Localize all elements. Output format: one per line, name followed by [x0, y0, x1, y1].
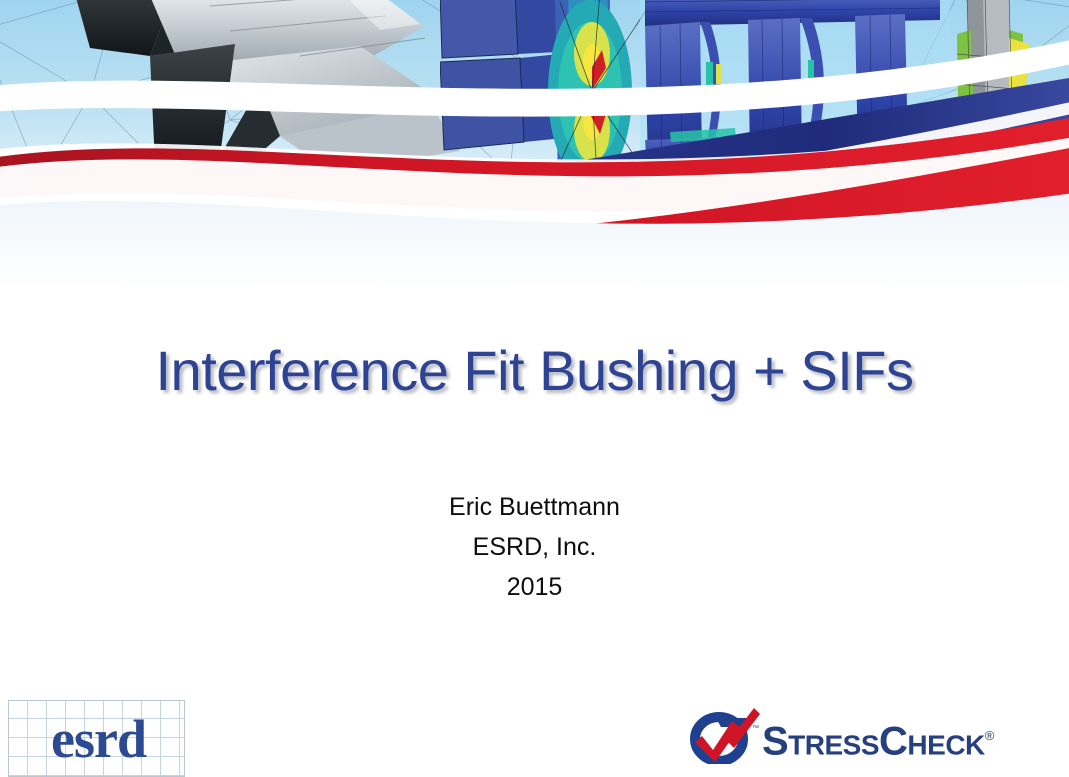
- svg-text:™: ™: [752, 725, 759, 732]
- stresscheck-wordmark-text: StressCheck: [762, 719, 985, 763]
- white-swoosh-top: [0, 38, 1069, 117]
- author-name: Eric Buettmann: [0, 487, 1069, 527]
- esrd-logo: esrd: [8, 700, 185, 777]
- presentation-slide: Interference Fit Bushing + SIFs Eric Bue…: [0, 0, 1069, 777]
- organization-name: ESRD, Inc.: [0, 527, 1069, 567]
- sigma-checkmark-icon: ™: [688, 706, 760, 764]
- subtitle-block: Eric Buettmann ESRD, Inc. 2015: [0, 487, 1069, 607]
- stresscheck-wordmark: StressCheck®: [762, 714, 994, 763]
- swoosh-graphics: [0, 0, 1069, 290]
- header-banner: [0, 0, 1069, 290]
- registered-mark: ®: [985, 728, 994, 743]
- stresscheck-logo: ™ StressCheck®: [688, 704, 1063, 768]
- year-label: 2015: [0, 567, 1069, 607]
- page-title: Interference Fit Bushing + SIFs: [0, 338, 1069, 403]
- esrd-wordmark: esrd: [9, 712, 184, 766]
